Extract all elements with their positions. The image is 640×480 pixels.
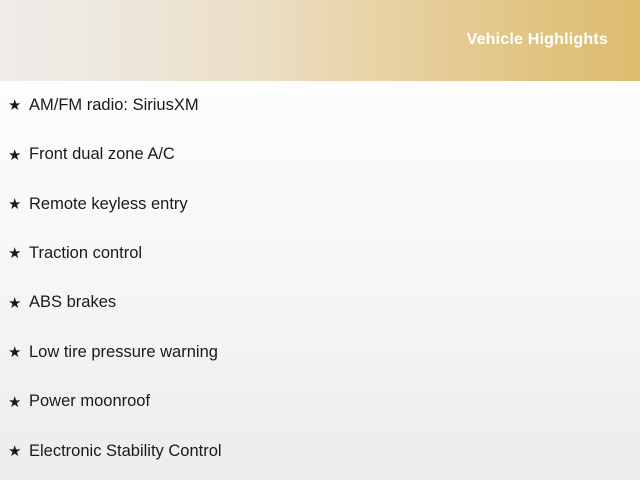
star-icon: ★ bbox=[8, 296, 29, 311]
star-icon: ★ bbox=[8, 395, 29, 410]
highlight-label: Electronic Stability Control bbox=[29, 442, 640, 462]
list-item: ★ Traction control bbox=[0, 229, 640, 278]
star-icon: ★ bbox=[8, 197, 29, 212]
highlight-label: Power moonroof bbox=[29, 392, 640, 412]
star-icon: ★ bbox=[8, 148, 29, 163]
star-icon: ★ bbox=[8, 345, 29, 360]
list-item: ★ Front dual zone A/C bbox=[0, 130, 640, 179]
highlight-label: Traction control bbox=[29, 244, 640, 264]
list-item: ★ Power moonroof bbox=[0, 377, 640, 426]
star-icon: ★ bbox=[8, 246, 29, 261]
highlight-label: Remote keyless entry bbox=[29, 195, 640, 215]
highlights-list: ★ AM/FM radio: SiriusXM ★ Front dual zon… bbox=[0, 81, 640, 480]
list-item: ★ ABS brakes bbox=[0, 279, 640, 328]
highlight-label: Low tire pressure warning bbox=[29, 343, 640, 363]
star-icon: ★ bbox=[8, 444, 29, 459]
page-title: Vehicle Highlights bbox=[467, 32, 608, 50]
star-icon: ★ bbox=[8, 98, 29, 113]
list-item: ★ Electronic Stability Control bbox=[0, 427, 640, 476]
highlight-label: AM/FM radio: SiriusXM bbox=[29, 96, 640, 116]
highlight-label: Front dual zone A/C bbox=[29, 145, 640, 165]
list-item: ★ Low tire pressure warning bbox=[0, 328, 640, 377]
list-item: ★ AM/FM radio: SiriusXM bbox=[0, 81, 640, 130]
highlight-label: ABS brakes bbox=[29, 293, 640, 313]
list-item: ★ Remote keyless entry bbox=[0, 180, 640, 229]
page-header: Vehicle Highlights bbox=[0, 0, 640, 81]
vehicle-highlights-page: Vehicle Highlights ★ AM/FM radio: Sirius… bbox=[0, 0, 640, 480]
